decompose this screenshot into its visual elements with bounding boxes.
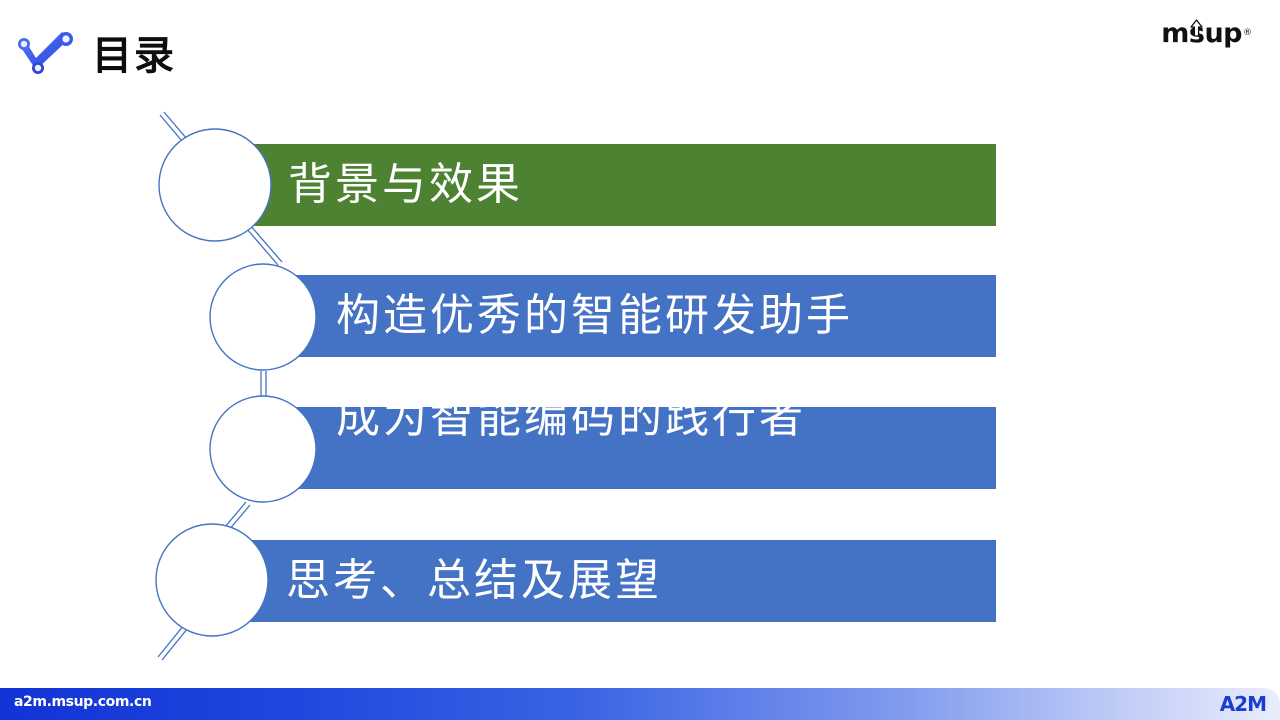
slide: 目录 msup ® 背景与效果 构造优秀的智能研发助手 成为智能编码的践行者 思…	[0, 0, 1280, 720]
agenda-item-3-label: 成为智能编码的践行者	[236, 393, 806, 443]
agenda-item-4[interactable]: 思考、总结及展望	[236, 540, 996, 622]
agenda-item-4-label: 思考、总结及展望	[236, 556, 662, 606]
agenda-item-2[interactable]: 构造优秀的智能研发助手	[236, 275, 996, 357]
agenda-item-1[interactable]: 背景与效果	[236, 144, 996, 226]
agenda-item-1-label: 背景与效果	[236, 160, 523, 210]
footer-url[interactable]: a2m.msup.com.cn	[14, 694, 151, 710]
agenda-list: 背景与效果 构造优秀的智能研发助手 成为智能编码的践行者 思考、总结及展望	[0, 0, 1280, 680]
agenda-item-2-label: 构造优秀的智能研发助手	[236, 291, 853, 341]
slide-footer: a2m.msup.com.cn A2M	[0, 688, 1280, 720]
a2m-logo: A2M	[1220, 692, 1266, 716]
agenda-item-3[interactable]: 成为智能编码的践行者	[236, 407, 996, 489]
